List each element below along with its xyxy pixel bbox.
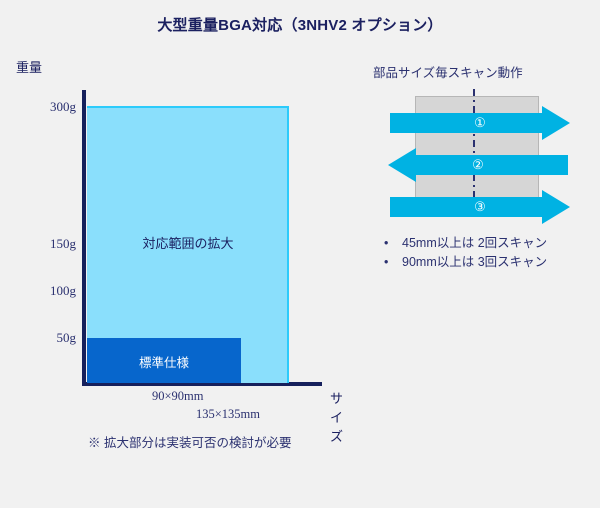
scan-arrow-1-number: ① <box>390 115 570 131</box>
scan-arrow-3: ③ <box>390 190 570 224</box>
page-title: 大型重量BGA対応（3NHV2 オプション） <box>0 14 600 35</box>
bar-expanded-label: 対応範囲の拡大 <box>87 233 289 252</box>
scan-arrow-2-number: ② <box>388 157 568 173</box>
panel-title: 部品サイズ毎スキャン動作 <box>373 62 523 81</box>
list-item: 45mm以上は 2回スキャン <box>382 234 600 253</box>
slide-root: 大型重量BGA対応（3NHV2 オプション） 重量 サイズ 300g 150g … <box>0 0 600 508</box>
y-tick-300g: 300g <box>16 99 76 115</box>
scan-arrow-3-number: ③ <box>390 199 570 215</box>
scan-arrow-1: ① <box>390 106 570 140</box>
scan-rule-list: 45mm以上は 2回スキャン 90mm以上は 3回スキャン <box>382 234 600 272</box>
y-axis-title: 重量 <box>16 57 42 76</box>
scan-arrow-2: ② <box>388 148 568 182</box>
x-tick-135x135mm: 135×135mm <box>196 407 376 422</box>
y-tick-150g: 150g <box>16 236 76 252</box>
y-tick-100g: 100g <box>16 283 76 299</box>
y-axis-line <box>82 90 86 385</box>
bar-standard-label: 標準仕様 <box>87 352 241 371</box>
chart-footnote: ※ 拡大部分は実装可否の検討が必要 <box>88 432 291 451</box>
scan-behavior-panel: 部品サイズ毎スキャン動作 ① ② ③ 45mm以上は 2回スキャン 90 <box>360 56 600 286</box>
x-tick-90x90mm: 90×90mm <box>152 389 332 404</box>
y-tick-50g: 50g <box>16 330 76 346</box>
weight-size-chart: 重量 サイズ 300g 150g 100g 50g 対応範囲の拡大 標準仕様 9… <box>0 50 350 430</box>
list-item: 90mm以上は 3回スキャン <box>382 253 600 272</box>
